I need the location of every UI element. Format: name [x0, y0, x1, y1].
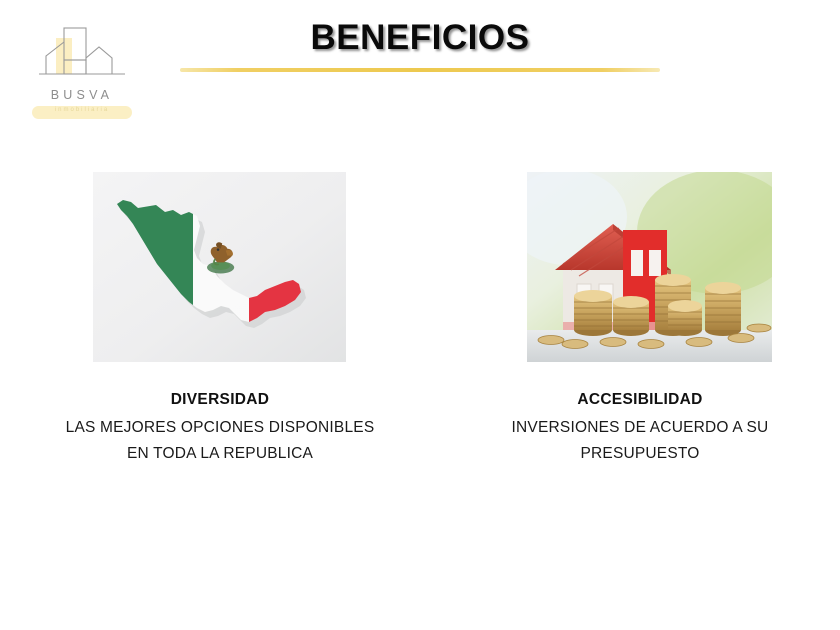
- benefit-description-line-2: PRESUPUESTO: [440, 441, 840, 467]
- benefit-caption-diversidad: DIVERSIDAD LAS MEJORES OPCIONES DISPONIB…: [20, 390, 420, 467]
- benefit-title: ACCESIBILIDAD: [440, 390, 840, 409]
- mexico-map-flag-image: [93, 172, 346, 362]
- logo-subtitle: inmobiliaria: [26, 107, 138, 113]
- benefit-description-line-2: EN TODA LA REPUBLICA: [20, 441, 420, 467]
- house-coins-graphic: [527, 172, 772, 362]
- benefit-description-line-1: INVERSIONES DE ACUERDO A SU: [440, 415, 840, 441]
- benefit-caption-accesibilidad: ACCESIBILIDAD INVERSIONES DE ACUERDO A S…: [440, 390, 840, 467]
- slide-canvas: BUSVA inmobiliaria BENEFICIOS: [0, 0, 840, 630]
- page-title: BENEFICIOS: [0, 18, 840, 58]
- logo-wordmark: BUSVA: [26, 88, 138, 102]
- benefit-title: DIVERSIDAD: [20, 390, 420, 409]
- benefit-description: LAS MEJORES OPCIONES DISPONIBLES EN TODA…: [20, 415, 420, 467]
- benefit-description: INVERSIONES DE ACUERDO A SU PRESUPUESTO: [440, 415, 840, 467]
- house-coins-image: [527, 172, 772, 362]
- title-underline-rule: [180, 68, 660, 72]
- mexico-map-graphic: [93, 172, 346, 362]
- benefit-description-line-1: LAS MEJORES OPCIONES DISPONIBLES: [20, 415, 420, 441]
